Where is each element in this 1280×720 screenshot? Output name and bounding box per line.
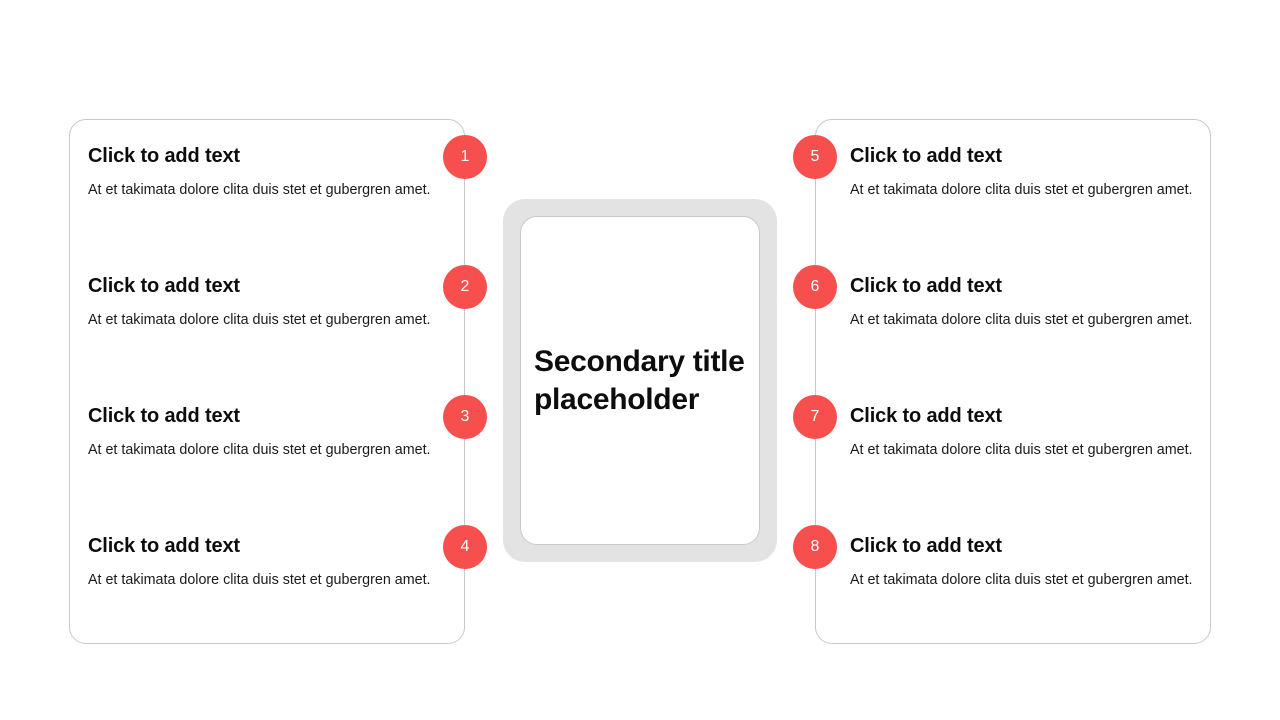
list-item[interactable]: Click to add text At et takimata dolore … xyxy=(850,274,1200,331)
list-item-body: At et takimata dolore clita duis stet et… xyxy=(850,439,1195,461)
step-badge-label: 7 xyxy=(811,408,820,426)
list-item-title: Click to add text xyxy=(850,534,1200,558)
list-item-body: At et takimata dolore clita duis stet et… xyxy=(850,179,1195,201)
list-item-title: Click to add text xyxy=(850,404,1200,428)
list-item-body: At et takimata dolore clita duis stet et… xyxy=(88,569,433,591)
list-item[interactable]: Click to add text At et takimata dolore … xyxy=(850,534,1200,591)
step-badge-1[interactable]: 1 xyxy=(443,135,487,179)
list-item[interactable]: Click to add text At et takimata dolore … xyxy=(88,144,438,201)
slide-canvas: Click to add text At et takimata dolore … xyxy=(0,0,1280,720)
list-item-body: At et takimata dolore clita duis stet et… xyxy=(88,309,433,331)
step-badge-label: 5 xyxy=(811,148,820,166)
list-item[interactable]: Click to add text At et takimata dolore … xyxy=(88,274,438,331)
list-item[interactable]: Click to add text At et takimata dolore … xyxy=(88,404,438,461)
secondary-title-card[interactable]: Secondary title placeholder xyxy=(520,216,760,545)
list-item-body: At et takimata dolore clita duis stet et… xyxy=(850,309,1195,331)
list-item[interactable]: Click to add text At et takimata dolore … xyxy=(850,404,1200,461)
step-badge-label: 4 xyxy=(461,538,470,556)
list-item[interactable]: Click to add text At et takimata dolore … xyxy=(850,144,1200,201)
list-item-title: Click to add text xyxy=(850,274,1200,298)
secondary-title-placeholder: Secondary title placeholder xyxy=(521,343,759,419)
step-badge-3[interactable]: 3 xyxy=(443,395,487,439)
step-badge-label: 3 xyxy=(461,408,470,426)
step-badge-6[interactable]: 6 xyxy=(793,265,837,309)
step-badge-4[interactable]: 4 xyxy=(443,525,487,569)
list-item-title: Click to add text xyxy=(88,144,438,168)
step-badge-label: 2 xyxy=(461,278,470,296)
list-item-body: At et takimata dolore clita duis stet et… xyxy=(850,569,1195,591)
step-badge-label: 6 xyxy=(811,278,820,296)
step-badge-label: 8 xyxy=(811,538,820,556)
list-item-title: Click to add text xyxy=(850,144,1200,168)
step-badge-2[interactable]: 2 xyxy=(443,265,487,309)
list-item-title: Click to add text xyxy=(88,274,438,298)
step-badge-label: 1 xyxy=(461,148,470,166)
step-badge-7[interactable]: 7 xyxy=(793,395,837,439)
list-item[interactable]: Click to add text At et takimata dolore … xyxy=(88,534,438,591)
list-item-body: At et takimata dolore clita duis stet et… xyxy=(88,179,433,201)
list-item-body: At et takimata dolore clita duis stet et… xyxy=(88,439,433,461)
list-item-title: Click to add text xyxy=(88,534,438,558)
list-item-title: Click to add text xyxy=(88,404,438,428)
center-frame: Secondary title placeholder xyxy=(503,199,777,562)
step-badge-5[interactable]: 5 xyxy=(793,135,837,179)
step-badge-8[interactable]: 8 xyxy=(793,525,837,569)
